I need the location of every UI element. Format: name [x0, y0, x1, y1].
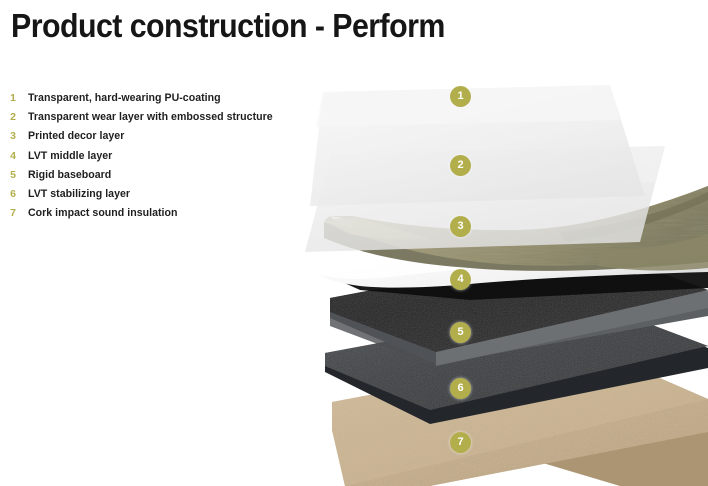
- legend-item-label: Rigid baseboard: [28, 166, 111, 185]
- legend-item-1: 1 Transparent, hard-wearing PU-coating: [0, 89, 330, 108]
- legend-item-7: 7 Cork impact sound insulation: [0, 204, 330, 223]
- legend-item-label: Transparent wear layer with embossed str…: [28, 108, 273, 127]
- legend-item-label: LVT stabilizing layer: [28, 185, 130, 204]
- legend-item-number: 6: [6, 185, 20, 204]
- layer-badge-1[interactable]: 1: [450, 86, 471, 107]
- legend-item-2: 2 Transparent wear layer with embossed s…: [0, 108, 330, 127]
- legend-item-label: Cork impact sound insulation: [28, 204, 177, 223]
- legend-item-label: Transparent, hard-wearing PU-coating: [28, 89, 221, 108]
- legend-item-3: 3 Printed decor layer: [0, 127, 330, 146]
- layer-badge-2[interactable]: 2: [450, 155, 471, 176]
- legend-item-number: 7: [6, 204, 20, 223]
- product-construction-illustration: [0, 0, 708, 486]
- layer-legend: 1 Transparent, hard-wearing PU-coating 2…: [0, 89, 330, 223]
- legend-item-number: 1: [6, 89, 20, 108]
- legend-item-number: 5: [6, 166, 20, 185]
- legend-item-label: LVT middle layer: [28, 147, 112, 166]
- layer-badge-7[interactable]: 7: [450, 432, 471, 453]
- layer-1-pu-coating: [310, 85, 645, 206]
- layer-badge-5[interactable]: 5: [450, 322, 471, 343]
- legend-item-number: 3: [6, 127, 20, 146]
- layer-badge-4[interactable]: 4: [450, 269, 471, 290]
- layer-badge-6[interactable]: 6: [450, 378, 471, 399]
- legend-item-4: 4 LVT middle layer: [0, 147, 330, 166]
- slide-canvas: Product construction - Perform: [0, 0, 708, 486]
- layer-badge-3[interactable]: 3: [450, 216, 471, 237]
- legend-item-number: 2: [6, 108, 20, 127]
- legend-item-number: 4: [6, 147, 20, 166]
- legend-item-label: Printed decor layer: [28, 127, 124, 146]
- legend-item-5: 5 Rigid baseboard: [0, 166, 330, 185]
- legend-item-6: 6 LVT stabilizing layer: [0, 185, 330, 204]
